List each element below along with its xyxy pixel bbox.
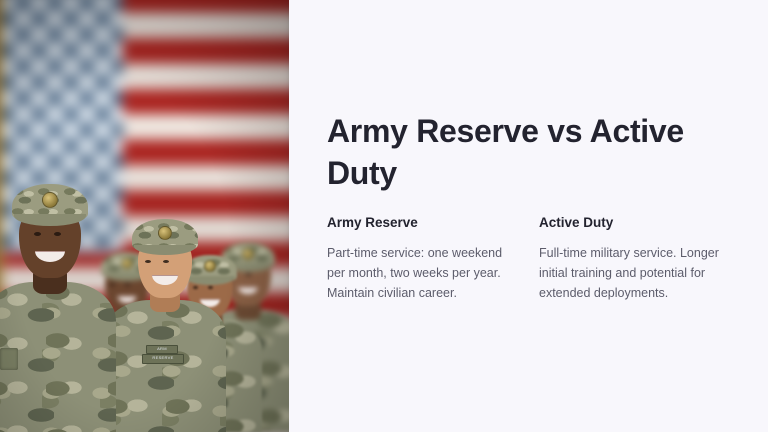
column-heading: Army Reserve [327,214,509,231]
nametape-reserve: RESERVE [142,354,184,364]
content-area: Army Reserve vs Active Duty Army Reserve… [289,0,768,432]
nametape-branch: ARM [146,345,178,354]
slide-root: ARM RESERVE Army Reserve vs Active Duty [0,0,768,432]
column-body: Full-time military service. Longer initi… [539,243,721,303]
soldier-front-left [0,170,116,432]
column-heading: Active Duty [539,214,721,231]
hero-photo: ARM RESERVE [0,0,289,432]
soldier-front-center: ARM RESERVE [104,210,226,432]
shoulder-patch [0,348,18,370]
comparison-columns: Army Reserve Part-time service: one week… [327,214,750,303]
column-army-reserve: Army Reserve Part-time service: one week… [327,214,509,303]
column-body: Part-time service: one weekend per month… [327,243,509,303]
page-title: Army Reserve vs Active Duty [327,110,687,194]
soldier-group: ARM RESERVE [0,108,289,432]
column-active-duty: Active Duty Full-time military service. … [539,214,721,303]
